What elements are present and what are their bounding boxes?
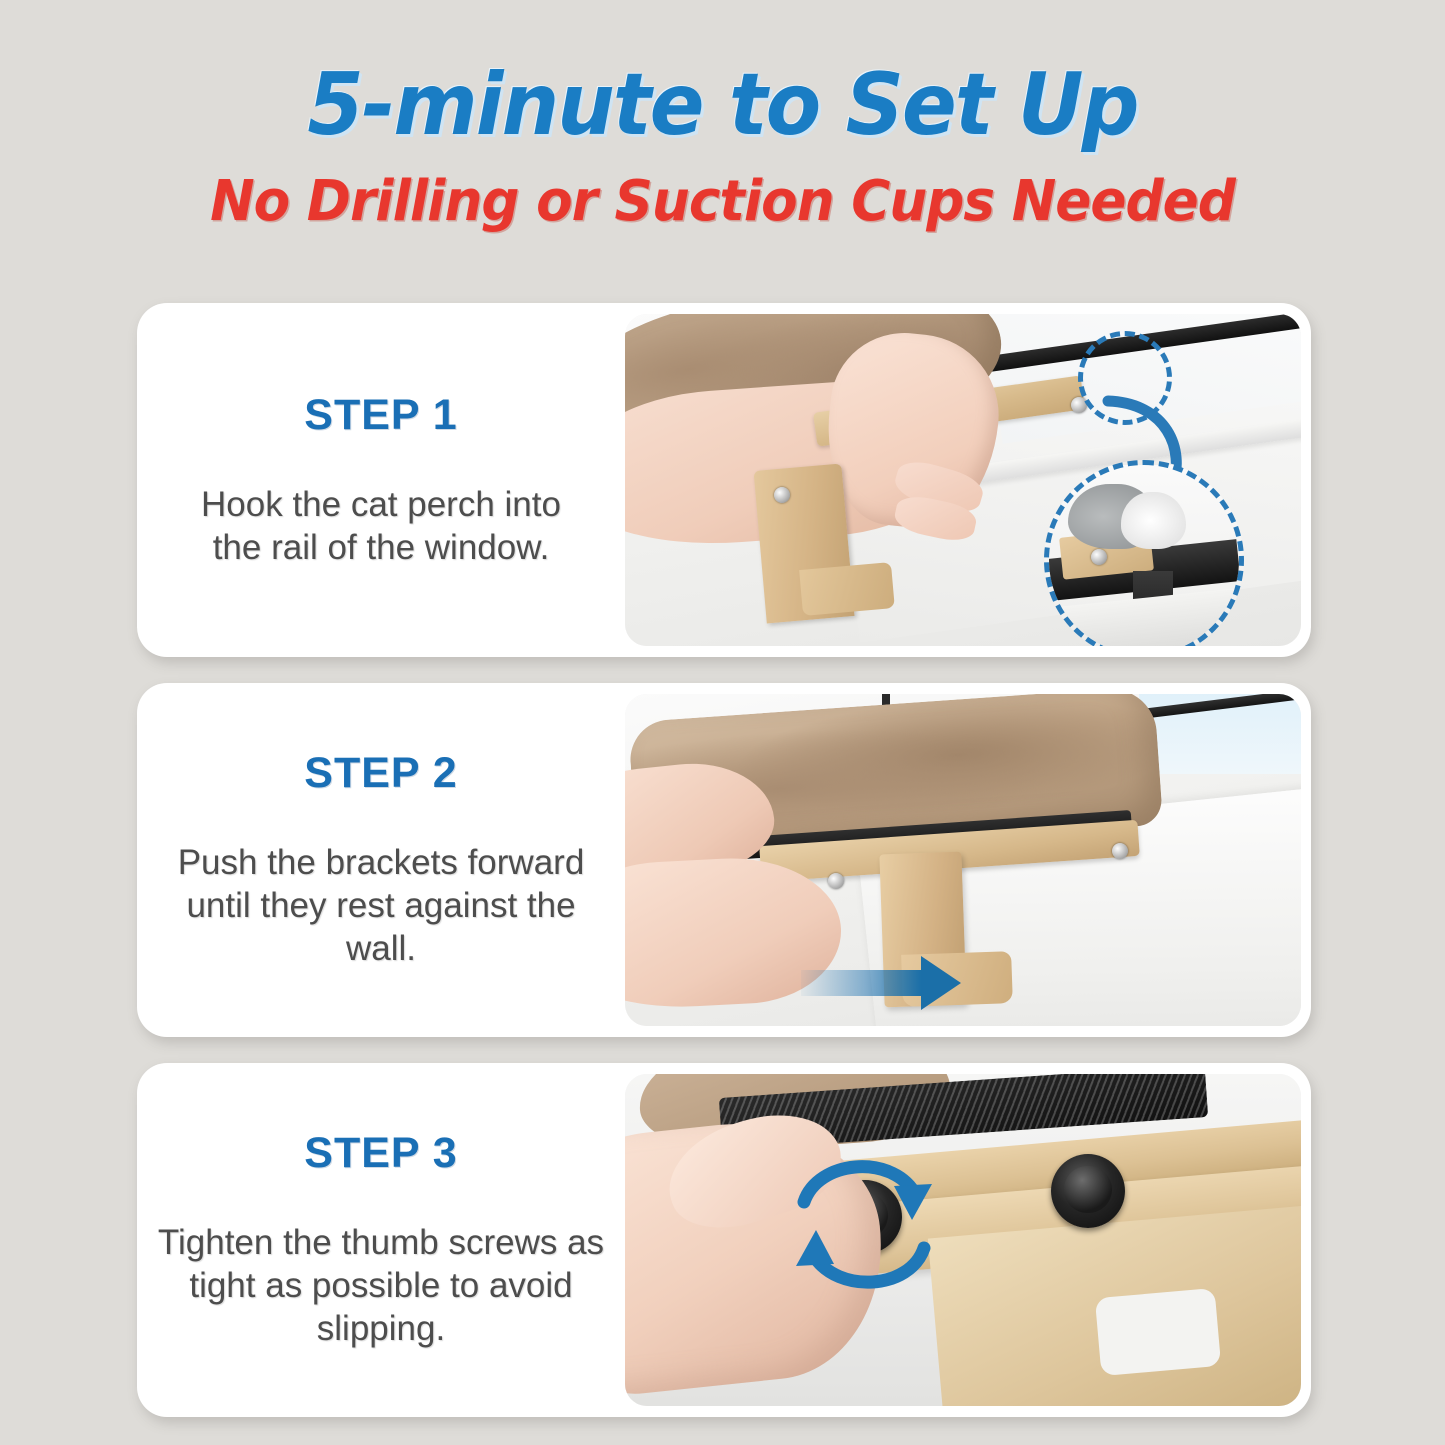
screw-head [828,873,844,889]
step-2-photo [625,694,1301,1026]
step-card-3: STEP 3 Tighten the thumb screws as tight… [137,1063,1311,1417]
board-cutout [1095,1288,1221,1376]
step-1-label: STEP 1 [304,391,457,440]
step-3-description: Tighten the thumb screws as tight as pos… [158,1222,604,1350]
step-3-label: STEP 3 [304,1129,457,1178]
screw-head [774,487,790,503]
page-title: 5-minute to Set Up [43,62,1401,148]
steps-list: STEP 1 Hook the cat perch into the rail … [137,303,1311,1443]
step-1-description: Hook the cat perch into the rail of the … [201,484,561,569]
zoom-fur-white [1121,492,1186,549]
infographic-header: 5-minute to Set Up No Drilling or Suctio… [0,0,1445,230]
page-subtitle: No Drilling or Suction Cups Needed [36,174,1409,230]
perch-hook-foot [799,562,895,616]
knob-dome [1064,1166,1111,1213]
hook-detail-zoom-circle [1044,460,1244,646]
hook-highlight-circle [1078,331,1172,425]
thumb-screw-knob-right [1051,1154,1125,1228]
step-2-description: Push the brackets forward until they res… [151,842,611,970]
step-1-photo [625,314,1301,646]
arrow-head [921,956,961,1010]
step-card-2: STEP 2 Push the brackets forward until t… [137,683,1311,1037]
step-2-text-block: STEP 2 Push the brackets forward until t… [137,683,625,1037]
step-2-label: STEP 2 [304,749,457,798]
step-3-photo [625,1074,1301,1406]
step-3-text-block: STEP 3 Tighten the thumb screws as tight… [137,1063,625,1417]
screw-head [1091,549,1107,565]
step-card-1: STEP 1 Hook the cat perch into the rail … [137,303,1311,657]
arrow-shaft [801,970,921,996]
step-1-text-block: STEP 1 Hook the cat perch into the rail … [137,303,625,657]
push-direction-arrow [801,960,961,1006]
